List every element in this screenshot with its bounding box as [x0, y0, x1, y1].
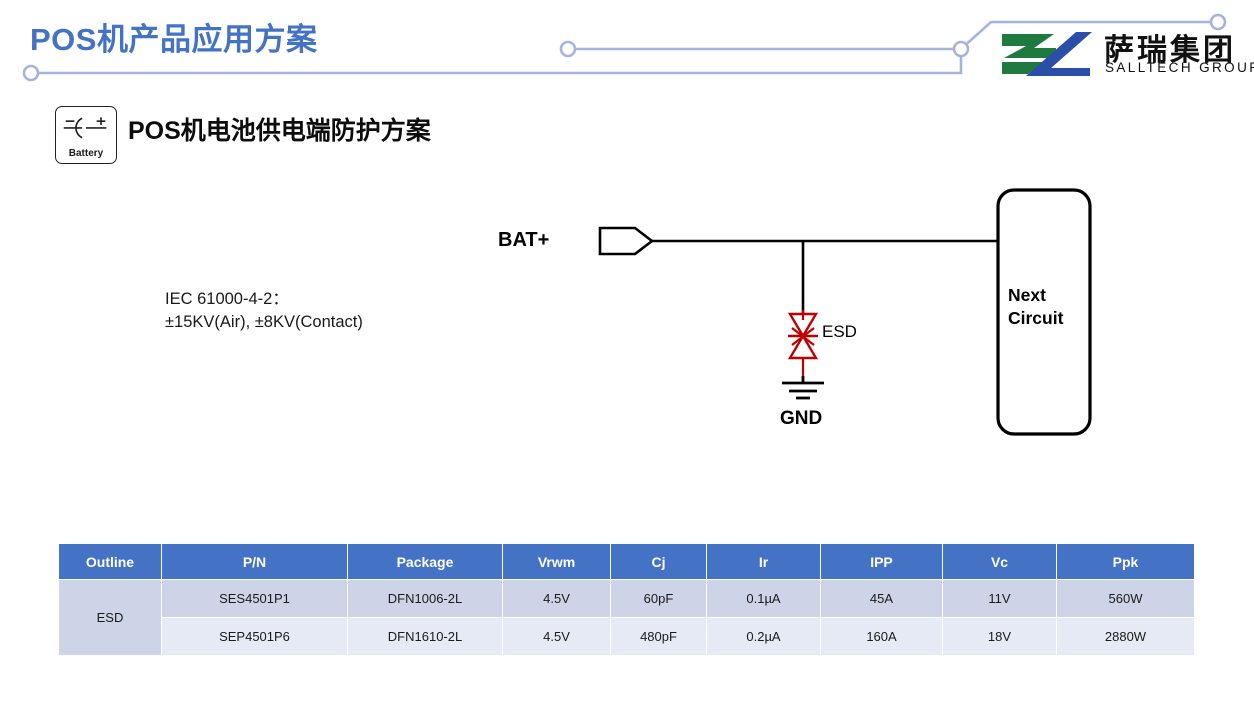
- column-header-ipp: IPP: [821, 544, 943, 580]
- cell-vrwm: 4.5V: [503, 580, 611, 618]
- cell-ppk: 2880W: [1057, 618, 1195, 656]
- circuit-diagram: BAT+ ESD GND Next Circuit: [470, 180, 1120, 450]
- column-header-cj: Cj: [611, 544, 707, 580]
- column-header-outline: Outline: [59, 544, 162, 580]
- cell-pn: SEP4501P6: [162, 618, 348, 656]
- table-row: ESD SES4501P1 DFN1006-2L 4.5V 60pF 0.1µA…: [59, 580, 1195, 618]
- column-header-vc: Vc: [943, 544, 1057, 580]
- cell-ppk: 560W: [1057, 580, 1195, 618]
- cell-vrwm: 4.5V: [503, 618, 611, 656]
- gnd-label: GND: [780, 408, 822, 430]
- next-circuit-label-line1: Next: [1008, 284, 1063, 307]
- esd-diode-icon: [788, 310, 818, 380]
- cell-package: DFN1006-2L: [348, 580, 503, 618]
- cell-ipp: 45A: [821, 580, 943, 618]
- section-heading-latin: POS: [128, 117, 181, 145]
- cell-vc: 18V: [943, 618, 1057, 656]
- standard-note: IEC 61000-4-2： ±15KV(Air), ±8KV(Contact): [165, 288, 363, 334]
- decoration-node-left: [24, 66, 38, 80]
- page-title: POS机产品应用方案: [30, 14, 317, 59]
- column-header-vrwm: Vrwm: [503, 544, 611, 580]
- cell-vc: 11V: [943, 580, 1057, 618]
- battery-icon: Battery: [55, 106, 117, 164]
- cell-ir: 0.2µA: [707, 618, 821, 656]
- standard-note-line2: ±15KV(Air), ±8KV(Contact): [165, 311, 363, 334]
- next-circuit-label: Next Circuit: [1008, 284, 1063, 330]
- brand-name-latin: SALLTECH GROUP: [1105, 60, 1254, 75]
- salltech-logo-icon: [998, 28, 1094, 80]
- spec-table: Outline P/N Package Vrwm Cj Ir IPP Vc Pp…: [58, 543, 1195, 656]
- cell-package: DFN1610-2L: [348, 618, 503, 656]
- next-circuit-label-line2: Circuit: [1008, 307, 1063, 330]
- section-heading-cjk: 机电池供电端防护方案: [181, 118, 431, 145]
- cell-pn: SES4501P1: [162, 580, 348, 618]
- esd-label: ESD: [822, 322, 857, 342]
- column-header-package: Package: [348, 544, 503, 580]
- battery-icon-label: Battery: [56, 148, 116, 159]
- cell-ir: 0.1µA: [707, 580, 821, 618]
- battery-symbol-icon: [56, 110, 116, 142]
- brand-logo: 萨瑞集团 SALLTECH GROUP: [998, 28, 1224, 82]
- column-header-ppk: Ppk: [1057, 544, 1195, 580]
- standard-note-line1: IEC 61000-4-2：: [165, 288, 363, 311]
- ground-symbol-icon: [782, 376, 824, 398]
- column-header-ir: Ir: [707, 544, 821, 580]
- cell-cj: 60pF: [611, 580, 707, 618]
- section-heading: POS机电池供电端防护方案: [128, 111, 431, 147]
- bat-plus-label: BAT+: [498, 229, 549, 252]
- cell-ipp: 160A: [821, 618, 943, 656]
- outline-group-cell: ESD: [59, 580, 162, 656]
- cell-cj: 480pF: [611, 618, 707, 656]
- bat-connector-icon: [600, 228, 652, 254]
- decoration-node-mid: [561, 42, 575, 56]
- decoration-node-junction: [954, 42, 968, 56]
- table-header-row: Outline P/N Package Vrwm Cj Ir IPP Vc Pp…: [59, 544, 1195, 580]
- column-header-pn: P/N: [162, 544, 348, 580]
- table-row: SEP4501P6 DFN1610-2L 4.5V 480pF 0.2µA 16…: [59, 618, 1195, 656]
